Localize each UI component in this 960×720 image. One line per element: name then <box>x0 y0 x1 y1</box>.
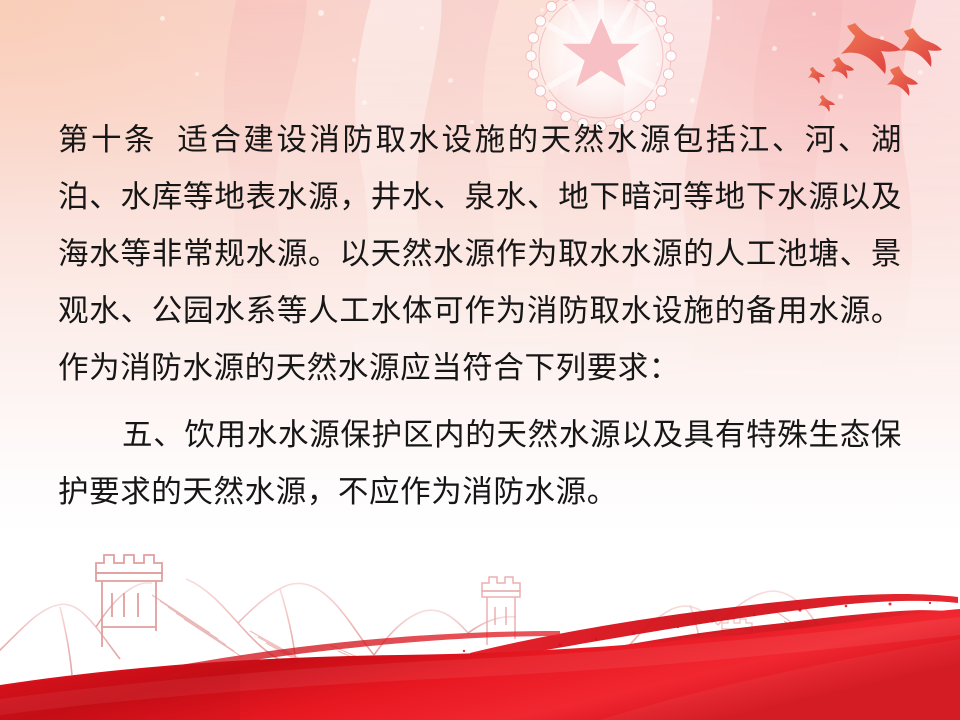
paragraph-article-ten: 第十条 适合建设消防取水设施的天然水源包括江、河、湖泊、水库等地表水源，井水、泉… <box>0 112 960 397</box>
slide-body-text: 第十条 适合建设消防取水设施的天然水源包括江、河、湖泊、水库等地表水源，井水、泉… <box>0 112 960 521</box>
paragraph-item-five: 五、饮用水水源保护区内的天然水源以及具有特殊生态保护要求的天然水源，不应作为消防… <box>0 407 960 521</box>
bottom-decoration <box>0 535 960 720</box>
slide-root: 第十条 适合建设消防取水设施的天然水源包括江、河、湖泊、水库等地表水源，井水、泉… <box>0 0 960 720</box>
